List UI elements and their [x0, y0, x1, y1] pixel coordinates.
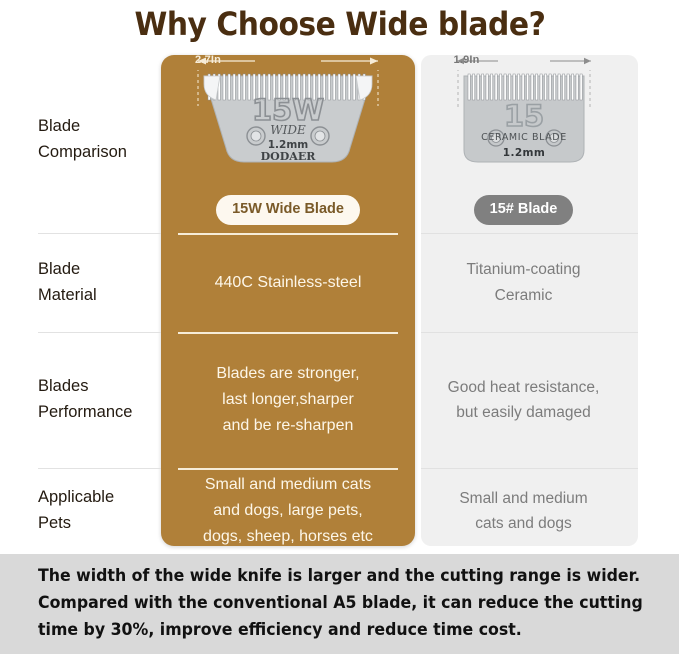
wide-blade-dimension: 2.7In — [195, 53, 381, 69]
row-label-line1: Blade — [38, 257, 153, 283]
row-label-blade-material: Blade Material — [0, 233, 161, 332]
value-line: dogs, sheep, horses etc — [203, 524, 373, 550]
row-label-line2: Comparison — [38, 140, 153, 166]
value-line: last longer,sharper — [222, 387, 354, 413]
row-applicable-pets: Applicable Pets Small and medium cats an… — [0, 468, 679, 554]
row-label-line1: Blade — [38, 114, 153, 140]
row-blade-comparison: Blade Comparison 2.7In — [0, 47, 679, 233]
value-line: Ceramic — [495, 283, 553, 308]
title-bar: Why Choose Wide blade? — [0, 0, 679, 47]
wide-blade-number: 15W — [252, 93, 324, 127]
page-title: Why Choose Wide blade? — [134, 5, 545, 43]
cell-wide-blade-material: 440C Stainless-steel — [161, 233, 415, 332]
standard-blade-dimension-label: 1.9In — [454, 52, 480, 70]
value-line: Small and medium cats — [205, 472, 371, 498]
row-label-applicable-pets: Applicable Pets — [0, 468, 161, 554]
value-line: Titanium-coating — [466, 257, 580, 282]
wide-blade-word: WIDE — [270, 123, 306, 137]
footer-line-1: The width of the wide knife is larger an… — [38, 563, 626, 590]
value-line: but easily damaged — [456, 400, 590, 425]
cell-standard-blade-pets: Small and medium cats and dogs — [415, 468, 632, 554]
row-label-blade-comparison: Blade Comparison — [0, 47, 161, 233]
row-label-line2: Material — [38, 283, 153, 309]
row-label-blades-performance: Blades Performance — [0, 332, 161, 468]
row-blades-performance: Blades Performance Blades are stronger, … — [0, 332, 679, 468]
comparison-board: Blade Comparison 2.7In — [0, 47, 679, 554]
standard-blade-dimension: 1.9In — [454, 53, 594, 69]
wide-blade-dimension-label: 2.7In — [195, 52, 221, 70]
standard-blade-size: 1.2mm — [502, 147, 544, 159]
comparison-rows: Blade Comparison 2.7In — [0, 47, 679, 554]
standard-blade-illustration: 15 CERAMIC BLADE 1.2mm — [444, 70, 604, 188]
footer-line-3: time by 30%, improve efficiency and redu… — [38, 617, 626, 644]
value-line: Blades are stronger, — [216, 361, 359, 387]
dimension-arrow-icon — [195, 53, 381, 69]
standard-blade-word: CERAMIC BLADE — [481, 132, 567, 143]
cell-wide-blade-image: 2.7In — [161, 47, 415, 233]
cell-wide-blade-pets: Small and medium cats and dogs, large pe… — [161, 468, 415, 554]
footer-line-2: Compared with the conventional A5 blade,… — [38, 590, 626, 617]
row-label-line1: Applicable — [38, 485, 153, 511]
row-label-line2: Pets — [38, 511, 153, 537]
value-line: 440C Stainless-steel — [215, 270, 362, 296]
wide-blade-illustration: 15W WIDE 1.2mm DODAER — [190, 70, 386, 188]
wide-blade-badge: 15W Wide Blade — [216, 195, 360, 225]
cell-wide-blade-performance: Blades are stronger, last longer,sharper… — [161, 332, 415, 468]
value-line: Good heat resistance, — [448, 375, 600, 400]
row-label-line2: Performance — [38, 400, 153, 426]
row-blade-material: Blade Material 440C Stainless-steel Tita… — [0, 233, 679, 332]
value-line: cats and dogs — [475, 511, 572, 536]
standard-blade-number: 15 — [503, 99, 543, 133]
cell-standard-blade-material: Titanium-coating Ceramic — [415, 233, 632, 332]
value-line: and be re-sharpen — [223, 413, 354, 439]
footer-summary: The width of the wide knife is larger an… — [0, 554, 679, 654]
value-line: Small and medium — [459, 486, 587, 511]
value-line: and dogs, large pets, — [213, 498, 362, 524]
wide-blade-brand: DODAER — [261, 150, 317, 163]
cell-standard-blade-image: 1.9In — [415, 47, 632, 233]
row-label-line1: Blades — [38, 374, 153, 400]
cell-standard-blade-performance: Good heat resistance, but easily damaged — [415, 332, 632, 468]
standard-blade-badge: 15# Blade — [474, 195, 574, 225]
